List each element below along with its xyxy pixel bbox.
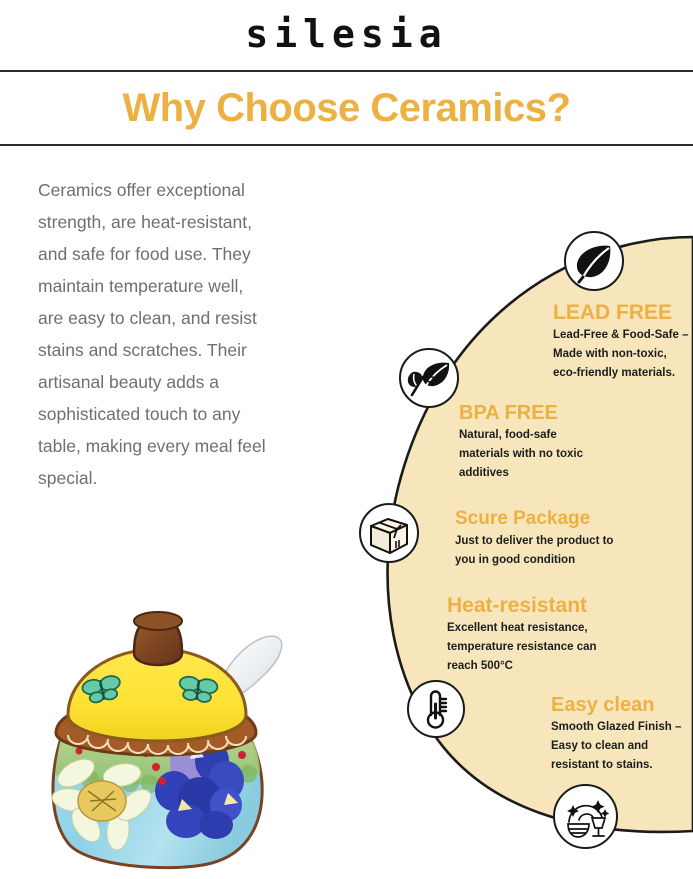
leaf-branch-icon: [399, 348, 459, 408]
feature-easy-clean: Easy clean Smooth Glazed Finish – Easy t…: [551, 692, 691, 775]
feature-title: Heat-resistant: [447, 592, 622, 619]
page-title: Why Choose Ceramics?: [0, 79, 693, 137]
feature-body: Lead-Free & Food-Safe – Made with non-to…: [553, 326, 693, 383]
feature-bpa-free: BPA FREE Natural, food-safe materials wi…: [459, 400, 609, 483]
feature-title: Scure Package: [455, 506, 625, 532]
header-divider-bottom: [0, 144, 693, 146]
feature-lead-free: LEAD FREE Lead-Free & Food-Safe – Made w…: [553, 300, 693, 383]
feature-title: BPA FREE: [459, 400, 609, 426]
feature-body: Excellent heat resistance, temperature r…: [447, 619, 622, 676]
feature-secure-package: Scure Package Just to deliver the produc…: [455, 506, 625, 570]
leaf-icon: [564, 231, 624, 291]
feature-heat-resistant: Heat-resistant Excellent heat resistance…: [447, 592, 622, 676]
feature-body: Just to deliver the product to you in go…: [455, 532, 625, 570]
feature-title: Easy clean: [551, 692, 691, 718]
product-photo: [34, 585, 304, 870]
feature-body: Smooth Glazed Finish – Easy to clean and…: [551, 718, 691, 775]
dishwasher-safe-icon: [553, 784, 618, 849]
thermometer-icon: [407, 680, 465, 738]
feature-body: Natural, food-safe materials with no tox…: [459, 426, 609, 483]
header-divider-top: [0, 70, 693, 72]
infographic-page: silesia Why Choose Ceramics? Ceramics of…: [0, 0, 693, 879]
feature-title: LEAD FREE: [553, 300, 693, 326]
package-box-icon: [359, 503, 419, 563]
ceramic-jar-illustration: [34, 585, 304, 870]
intro-paragraph: Ceramics offer exceptional strength, are…: [38, 174, 270, 494]
brand-logo: silesia: [0, 8, 693, 60]
